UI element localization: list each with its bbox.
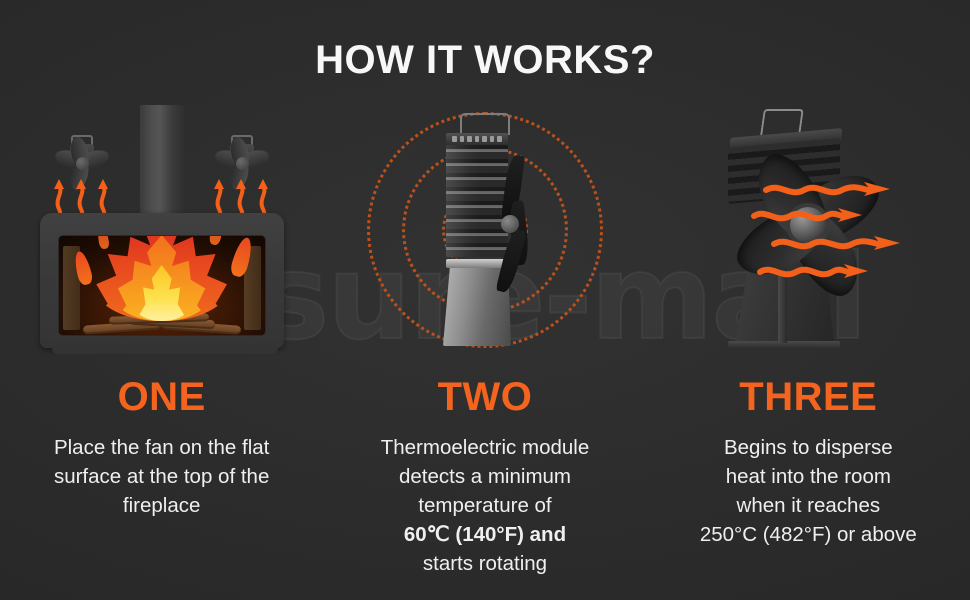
step-two: TWO Thermoelectric module detects a mini… (323, 100, 646, 600)
step-two-label: TWO (438, 377, 533, 417)
step-two-temperature: 60℃ (140°F) and (335, 520, 635, 549)
step-three: THREE Begins to disperse heat into the r… (647, 100, 970, 600)
step-three-description: Begins to disperse heat into the room wh… (658, 433, 958, 549)
fan-handle-icon (460, 113, 510, 135)
steps-container: ONE Place the fan on the flat surface at… (0, 100, 970, 600)
flame-spark (208, 235, 224, 246)
fan-hub (501, 215, 519, 233)
fan-side-graphic (360, 105, 610, 355)
heat-flow-arrow-icon (764, 179, 892, 199)
heat-flow-arrow-icon (752, 205, 864, 225)
fan-hub (236, 157, 249, 170)
stove-fan-right (209, 135, 275, 191)
step-two-line-5: starts rotating (335, 549, 635, 578)
flame-spark (96, 235, 110, 250)
chimney-pipe (140, 105, 184, 225)
fan-side-unit (443, 113, 527, 349)
step-one: ONE Place the fan on the flat surface at… (0, 100, 323, 600)
vent-slot (467, 136, 472, 142)
step-two-line-1: Thermoelectric module (335, 433, 635, 462)
step-two-line-3: temperature of (335, 491, 635, 520)
step-one-line-1: Place the fan on the flat (12, 433, 312, 462)
fan-vent-slots (452, 136, 502, 142)
step-two-illustration (323, 100, 646, 355)
step-one-line-3: fireplace (12, 491, 312, 520)
stove-foot (52, 346, 278, 354)
big-fan-graphic (678, 105, 938, 355)
fire-graphic (82, 235, 242, 321)
fan-blade-group (495, 153, 539, 283)
step-three-line-3: when it reaches (658, 491, 958, 520)
fan-hub (76, 157, 89, 170)
page-title: HOW IT WORKS? (0, 38, 970, 83)
step-three-line-2: heat into the room (658, 462, 958, 491)
vent-slot (452, 136, 457, 142)
step-three-label: THREE (739, 377, 877, 417)
vent-slot (490, 136, 495, 142)
wood-stove-graphic (37, 105, 287, 355)
vent-slot (475, 136, 480, 142)
stove-fan-left (49, 135, 115, 191)
step-one-illustration (0, 100, 323, 355)
step-three-line-1: Begins to disperse (658, 433, 958, 462)
step-one-label: ONE (118, 377, 206, 417)
step-three-line-4: 250°C (482°F) or above (658, 520, 958, 549)
stove-body (40, 213, 284, 348)
step-three-illustration (647, 100, 970, 355)
stove-firebox (58, 235, 266, 336)
step-two-line-2: detects a minimum (335, 462, 635, 491)
step-two-description: Thermoelectric module detects a minimum … (335, 433, 635, 579)
vent-slot (460, 136, 465, 142)
step-one-description: Place the fan on the flat surface at the… (12, 433, 312, 520)
vent-slot (497, 136, 502, 142)
vent-slot (482, 136, 487, 142)
step-one-line-2: surface at the top of the (12, 462, 312, 491)
heat-flow-arrow-icon (758, 261, 870, 281)
heat-flow-arrow-icon (772, 233, 902, 253)
